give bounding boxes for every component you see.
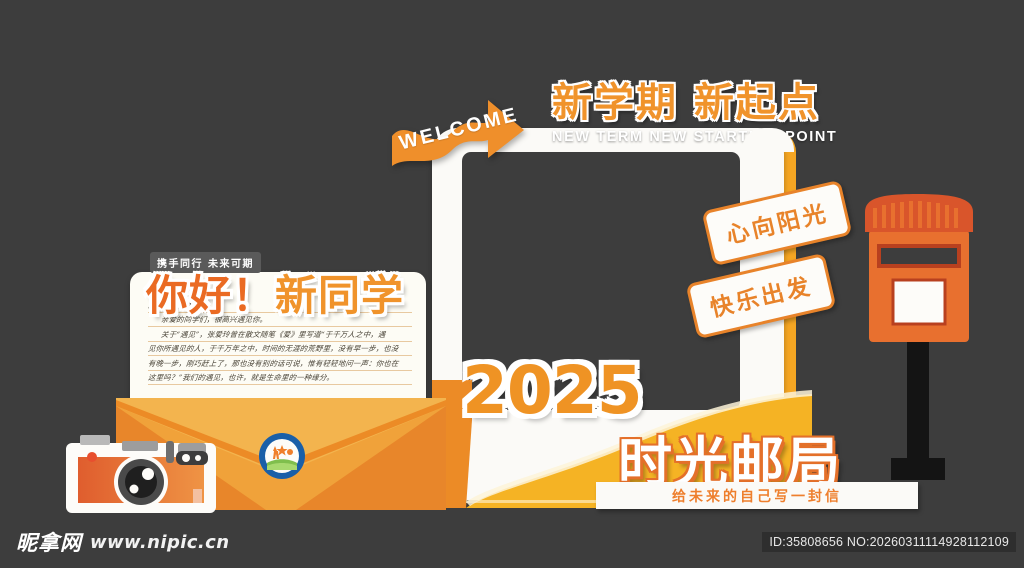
letter-line-text: 见你所遇见的人，于千万年之中，时间的无涯的荒野里，没有早一步，也没 <box>147 343 399 354</box>
letter-line: 有晚一步，刚巧赶上了，那也没有别的话可说，惟有轻轻地问一声：你也在 <box>148 356 412 371</box>
watermark-url: www.nipic.cn <box>90 532 229 553</box>
year-label: 2025 <box>462 352 642 429</box>
headline-chinese: 新学期 新起点 <box>552 70 852 128</box>
hello-title: 你好！新同学 <box>146 262 404 323</box>
camera-icon <box>62 427 220 515</box>
letter-line-text: 关于“遇见”，张爱玲曾在散文随笔《爱》里写道“于千万人之中，遇 <box>160 329 386 340</box>
hello-title-part2: 新同学 <box>275 271 404 320</box>
letter-line: 这里吗？”我们的遇见，也许，就是生命里的一种缘分。 <box>148 371 412 386</box>
poster-canvas: WELCOME 新学期 新起点 NEW TERM NEW STARTING PO… <box>0 0 1024 568</box>
watermark-logo: 昵拿网 <box>16 527 82 557</box>
image-id-code: ID:35808656 NO:20260311114928112109 <box>762 532 1016 552</box>
letter-line: 见你所遇见的人，于千万年之中，时间的无涯的荒野里，没有早一步，也没 <box>148 342 412 357</box>
headline-block: 新学期 新起点 NEW TERM NEW STARTING POINT <box>552 70 852 145</box>
school-emblem-icon <box>258 432 306 480</box>
letter-line-text: 有晚一步，刚巧赶上了，那也没有别的话可说，惟有轻轻地问一声：你也在 <box>147 358 399 369</box>
letter-line-text: 这里吗？”我们的遇见，也许，就是生命里的一种缘分。 <box>147 372 334 383</box>
post-office-subtitle: 给未来的自己写一封信 <box>672 486 842 506</box>
mailbox-icon <box>855 190 985 490</box>
letter-line: 关于“遇见”，张爱玲曾在散文随笔《爱》里写道“于千万人之中，遇 <box>148 327 412 342</box>
watermark: 昵拿网 www.nipic.cn <box>16 527 229 557</box>
headline-english: NEW TERM NEW STARTING POINT <box>552 129 852 145</box>
hello-title-part1: 你好！ <box>146 271 275 320</box>
